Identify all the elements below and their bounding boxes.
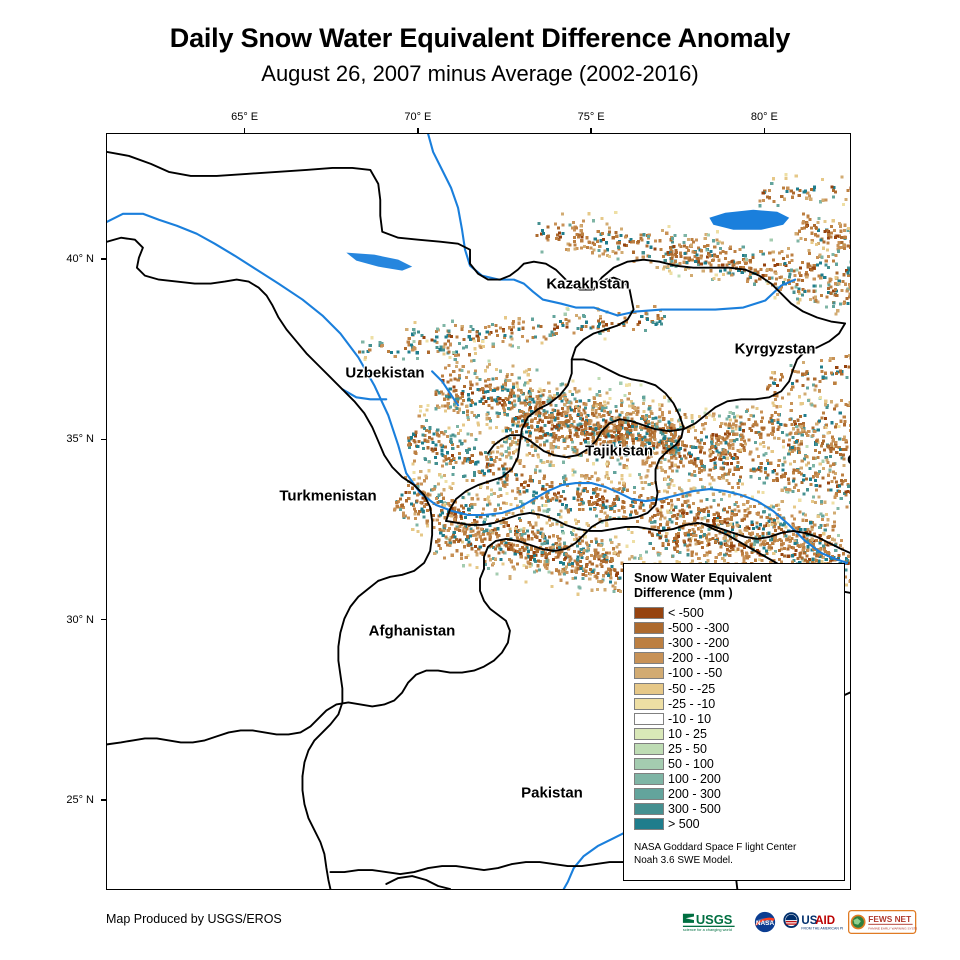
legend-label: -25 - -10 bbox=[668, 697, 715, 711]
legend-title-line-2: Difference (mm ) bbox=[634, 586, 844, 601]
legend-swatch bbox=[634, 728, 664, 740]
legend-label: 300 - 500 bbox=[668, 802, 721, 816]
legend-swatch bbox=[634, 758, 664, 770]
legend-source-note: NASA Goddard Space F light Center Noah 3… bbox=[634, 841, 844, 868]
legend-label: -10 - 10 bbox=[668, 712, 711, 726]
legend-swatch bbox=[634, 743, 664, 755]
legend-label: 100 - 200 bbox=[668, 772, 721, 786]
legend-label: 10 - 25 bbox=[668, 727, 707, 741]
map-canvas[interactable]: KazakhstanUzbekistanKyrgyzstanTajikistan… bbox=[106, 133, 851, 890]
legend-row: -10 - 10 bbox=[634, 711, 844, 726]
lat-tick-label: 25° N bbox=[48, 794, 94, 806]
map-legend[interactable]: Snow Water Equivalent Difference (mm ) <… bbox=[623, 563, 845, 881]
lat-tick-label: 35° N bbox=[48, 433, 94, 445]
page-title: Daily Snow Water Equivalent Difference A… bbox=[0, 24, 960, 54]
legend-title: Snow Water Equivalent Difference (mm ) bbox=[634, 571, 844, 602]
legend-swatch bbox=[634, 773, 664, 785]
legend-swatch bbox=[634, 698, 664, 710]
country-label-uzbekistan: Uzbekistan bbox=[345, 365, 424, 382]
country-label-kyrgyzstan: Kyrgyzstan bbox=[735, 341, 816, 358]
legend-swatch bbox=[634, 607, 664, 619]
title-block: Daily Snow Water Equivalent Difference A… bbox=[0, 24, 960, 86]
legend-swatch bbox=[634, 818, 664, 830]
legend-label: 200 - 300 bbox=[668, 787, 721, 801]
legend-row: 300 - 500 bbox=[634, 802, 844, 817]
fewsnet-logo: FEWS NET FAMINE EARLY WARNING SYSTEMS NE… bbox=[848, 910, 916, 934]
country-label-afghanistan: Afghanistan bbox=[369, 623, 456, 640]
legend-row: -25 - -10 bbox=[634, 696, 844, 711]
legend-swatch bbox=[634, 788, 664, 800]
legend-label: 25 - 50 bbox=[668, 742, 707, 756]
legend-row: -300 - -200 bbox=[634, 636, 844, 651]
legend-row: -500 - -300 bbox=[634, 621, 844, 636]
lon-tick-label: 70° E bbox=[404, 111, 431, 123]
legend-swatch bbox=[634, 637, 664, 649]
lon-tick-label: 65° E bbox=[231, 111, 258, 123]
legend-row: -100 - -50 bbox=[634, 666, 844, 681]
legend-label: -300 - -200 bbox=[668, 636, 729, 650]
legend-class-list: < -500-500 - -300-300 - -200-200 - -100-… bbox=[634, 606, 844, 832]
legend-swatch bbox=[634, 803, 664, 815]
legend-title-line-1: Snow Water Equivalent bbox=[634, 571, 844, 586]
legend-row: 10 - 25 bbox=[634, 726, 844, 741]
nasa-logo: NASA bbox=[753, 910, 777, 934]
legend-row: 100 - 200 bbox=[634, 772, 844, 787]
legend-swatch bbox=[634, 622, 664, 634]
legend-row: 200 - 300 bbox=[634, 787, 844, 802]
legend-label: -500 - -300 bbox=[668, 621, 729, 635]
legend-swatch bbox=[634, 667, 664, 679]
legend-row: < -500 bbox=[634, 606, 844, 621]
legend-label: > 500 bbox=[668, 817, 700, 831]
country-label-china: China bbox=[847, 452, 851, 469]
legend-row: -50 - -25 bbox=[634, 681, 844, 696]
lon-tick-label: 80° E bbox=[751, 111, 778, 123]
country-label-kazakhstan: Kazakhstan bbox=[546, 276, 629, 293]
country-label-turkmenistan: Turkmenistan bbox=[279, 488, 376, 505]
footer-credit: Map Produced by USGS/EROS bbox=[106, 912, 282, 926]
legend-swatch bbox=[634, 683, 664, 695]
legend-label: < -500 bbox=[668, 606, 704, 620]
page-subtitle: August 26, 2007 minus Average (2002-2016… bbox=[0, 62, 960, 86]
legend-label: -100 - -50 bbox=[668, 666, 722, 680]
country-label-pakistan: Pakistan bbox=[521, 785, 583, 802]
legend-label: 50 - 100 bbox=[668, 757, 714, 771]
legend-row: > 500 bbox=[634, 817, 844, 832]
lat-tick-label: 40° N bbox=[48, 253, 94, 265]
legend-swatch bbox=[634, 652, 664, 664]
country-label-tajikistan: Tajikistan bbox=[585, 443, 653, 460]
legend-label: -50 - -25 bbox=[668, 682, 715, 696]
legend-label: -200 - -100 bbox=[668, 651, 729, 665]
lat-tick-label: 30° N bbox=[48, 614, 94, 626]
logo-bar: USGS science for a changing world NASA U… bbox=[682, 909, 917, 935]
lon-tick-label: 75° E bbox=[578, 111, 605, 123]
usaid-logo: US AID FROM THE AMERICAN PEOPLE bbox=[782, 910, 843, 934]
legend-row: -200 - -100 bbox=[634, 651, 844, 666]
legend-swatch bbox=[634, 713, 664, 725]
legend-row: 50 - 100 bbox=[634, 756, 844, 771]
legend-row: 25 - 50 bbox=[634, 741, 844, 756]
usgs-logo: USGS science for a changing world bbox=[682, 910, 748, 934]
